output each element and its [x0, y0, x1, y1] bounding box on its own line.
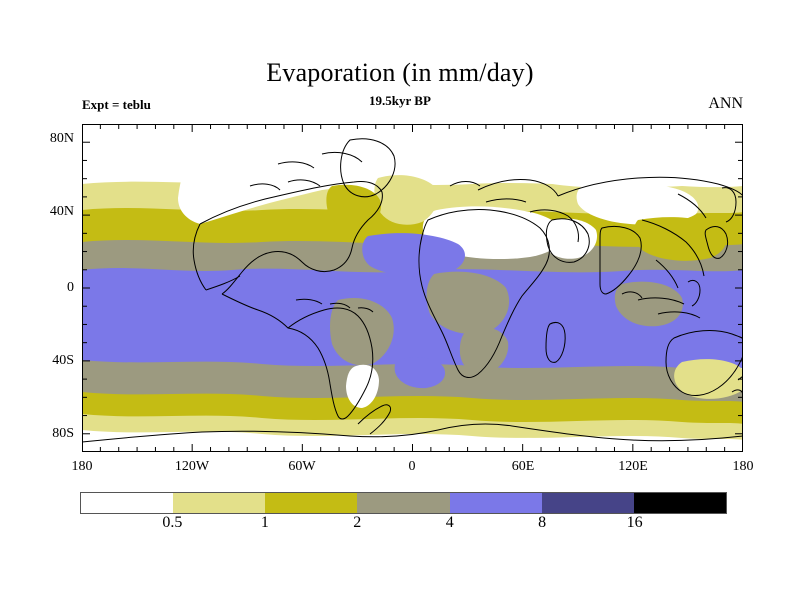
colorbar-band-0: [81, 493, 173, 513]
colorbar-band-6: [634, 493, 726, 513]
colorbar-tick-2: 2: [353, 514, 361, 532]
colorbar-tick-16: 16: [627, 514, 643, 532]
y-tick-0: 0: [14, 280, 74, 296]
colorbar-tick-0p5: 0.5: [162, 514, 182, 532]
page-title: Evaporation (in mm/day): [0, 58, 800, 88]
colorbar-tick-1: 1: [261, 514, 269, 532]
colorbar-band-4: [450, 493, 542, 513]
colorbar-band-5: [542, 493, 634, 513]
x-tick-0: 0: [409, 459, 416, 475]
season-label: ANN: [708, 95, 743, 113]
colorbar-band-1: [173, 493, 265, 513]
y-tick-80n: 80N: [14, 131, 74, 147]
colorbar: [80, 492, 727, 514]
x-tick-180w: 180: [72, 459, 93, 475]
y-tick-40n: 40N: [14, 204, 74, 220]
colorbar-tick-8: 8: [538, 514, 546, 532]
x-tick-120w: 120W: [175, 459, 209, 475]
colorbar-tick-4: 4: [446, 514, 454, 532]
colorbar-band-3: [357, 493, 449, 513]
y-tick-80s: 80S: [14, 426, 74, 442]
x-tick-120e: 120E: [618, 459, 648, 475]
x-tick-60w: 60W: [288, 459, 315, 475]
x-tick-180e: 180: [733, 459, 754, 475]
y-tick-40s: 40S: [14, 353, 74, 369]
experiment-label: Expt = teblu: [82, 97, 151, 113]
map-svg: [82, 124, 743, 452]
x-tick-60e: 60E: [512, 459, 535, 475]
colorbar-band-2: [265, 493, 357, 513]
evaporation-map: [82, 124, 743, 452]
